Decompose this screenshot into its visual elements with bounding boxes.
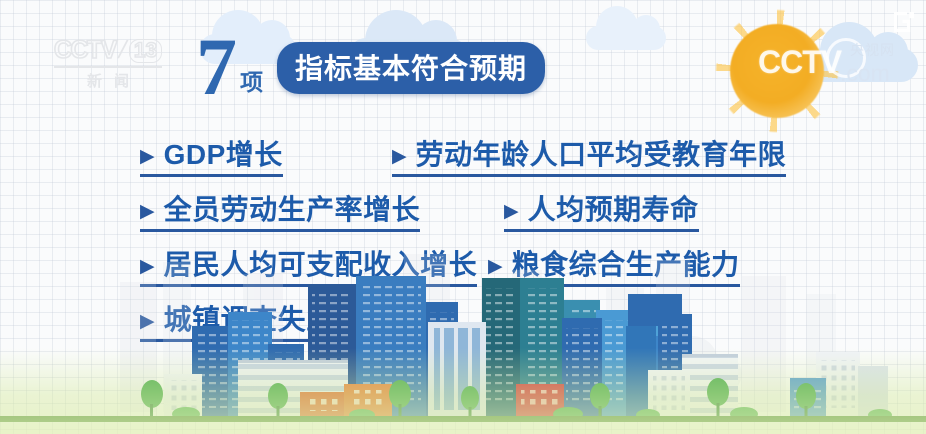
headline: 7 项 指标基本符合预期 — [196, 22, 545, 106]
cctv13-wordmark: CCTV — [54, 36, 116, 65]
list-item[interactable]: ▶ GDP增长 — [140, 138, 283, 177]
bullet-arrow-icon: ▶ — [504, 202, 519, 221]
headline-badge: 指标基本符合预期 — [277, 42, 545, 94]
nested-squares-logo-icon — [893, 11, 915, 33]
headline-unit: 项 — [240, 63, 263, 97]
list-item[interactable]: ▶ 人均预期寿命 — [504, 193, 699, 232]
cloud-decoration — [586, 26, 666, 50]
bullet-arrow-icon: ▶ — [140, 202, 155, 221]
headline-number: 7 — [196, 28, 235, 106]
cctv13-number: 13 — [129, 39, 162, 63]
list-item[interactable]: ▶ 劳动年龄人口平均受教育年限 — [392, 138, 786, 177]
list-item[interactable]: ▶ 全员劳动生产率增长 — [140, 193, 420, 232]
bullet-arrow-icon: ▶ — [392, 147, 407, 166]
cctv13-divider — [54, 66, 162, 68]
cctv13-slash: / — [115, 36, 129, 65]
bullet-arrow-icon: ▶ — [140, 147, 155, 166]
list-item-label: 人均预期寿命 — [528, 193, 699, 227]
cctv13-subtitle: 新闻 — [50, 70, 166, 91]
ground-glow — [0, 348, 926, 434]
cctv13-top-row: CCTV / 13 — [50, 36, 166, 65]
list-item-label: GDP增长 — [164, 138, 283, 172]
broadcast-graphic: CCTV .com 央视网 CCTV / 13 新闻 7 项 指标基本符合预期 … — [0, 0, 926, 434]
list-item-label: 全员劳动生产率增长 — [164, 193, 421, 227]
cctv-com-watermark-domain: .com — [840, 60, 890, 87]
cctv-com-watermark-chinese: 央视网 — [850, 40, 895, 60]
cctv13-channel-watermark: CCTV / 13 新闻 — [50, 36, 166, 91]
list-item-label: 劳动年龄人口平均受教育年限 — [416, 138, 787, 172]
